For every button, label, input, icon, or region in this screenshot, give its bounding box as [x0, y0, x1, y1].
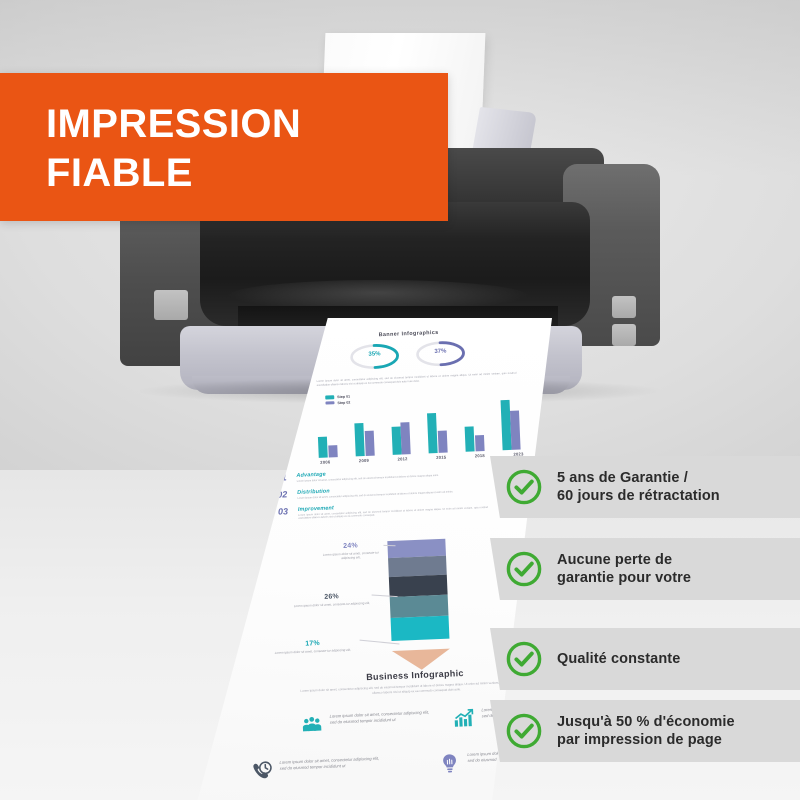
bar-group — [466, 451, 488, 452]
pyramid-percent-item: 26%Lorem ipsum dolor sit amet, consecte-… — [292, 592, 372, 608]
pyramid-segment — [388, 556, 447, 577]
feature-1-line-2: 60 jours de rétractation — [557, 488, 720, 504]
step-number: 03 — [278, 507, 293, 517]
feature-2-line-2: garantie pour votre — [557, 570, 691, 586]
feature-3-line-1: Qualité constante — [557, 651, 680, 667]
feature-1-line-1: 5 ans de Garantie / — [557, 470, 688, 486]
bar-step-02 — [474, 435, 484, 452]
check-circle-icon — [505, 550, 543, 588]
feature-callout-4: Jusqu'à 50 % d'économie par impression d… — [490, 700, 800, 762]
bar-step-01 — [391, 427, 401, 455]
headline-line-2: FIABLE — [46, 153, 193, 193]
pyramid-percent-item: 24%Lorem ipsum dolor sit amet, consecte-… — [317, 541, 384, 562]
feature-text-3: Qualité constante — [557, 650, 680, 668]
bar-group — [429, 452, 451, 453]
bar-group — [356, 455, 378, 456]
lightbulb-idea-icon — [438, 752, 461, 775]
legend-label-step-01: Step 01 — [337, 395, 350, 400]
feature-icon-item: Lorem ipsum dolor sit amet, consectetur … — [250, 755, 384, 783]
pyramid-connector-line — [383, 545, 395, 546]
donut-chart-2: 37% — [415, 340, 466, 368]
check-circle-icon — [505, 712, 543, 750]
numbered-steps-list: 01AdvantageLorem ipsum dolor sit amet, c… — [276, 464, 518, 528]
donut-chart-1: 35% — [349, 342, 400, 370]
feature-text-4: Jusqu'à 50 % d'économie par impression d… — [557, 713, 735, 750]
feature-callout-1: 5 ans de Garantie / 60 jours de rétracta… — [490, 456, 800, 518]
printer-feed-button — [612, 296, 636, 318]
bar-group — [319, 457, 341, 458]
x-axis-tick-label: 2009 — [345, 457, 384, 464]
feature-icon-text: Lorem ipsum dolor sit amet, consectetur … — [279, 755, 383, 772]
printer-cancel-button — [612, 324, 636, 346]
bar-step-01 — [427, 412, 438, 453]
headline-banner: IMPRESSION FIABLE — [0, 73, 448, 221]
bar-step-02 — [328, 446, 337, 458]
feature-text-2: Aucune perte de garantie pour votre — [557, 551, 691, 588]
legend-swatch-teal — [325, 396, 334, 400]
pyramid-percent-item: 17%Lorem ipsum dolor sit amet, consecte-… — [265, 638, 359, 655]
pyramid-segment — [391, 616, 450, 641]
pyramid-percent-body: Lorem ipsum dolor sit amet, consecte-tur… — [318, 550, 384, 562]
bar-group — [502, 449, 524, 450]
feature-text-1: 5 ans de Garantie / 60 jours de rétracta… — [557, 469, 720, 506]
bar-step-02 — [438, 430, 448, 453]
product-marketing-image: Banner Infographics 35% 37% Lorem ipsum … — [0, 0, 800, 800]
check-circle-icon — [505, 468, 543, 506]
feature-4-line-1: Jusqu'à 50 % d'économie — [557, 714, 735, 730]
bar-chart — [310, 395, 532, 458]
feature-callout-2: Aucune perte de garantie pour votre — [490, 538, 800, 600]
bar-step-02 — [364, 431, 374, 456]
feature-2-line-1: Aucune perte de — [557, 552, 672, 568]
bar-step-02 — [510, 411, 521, 450]
bar-step-01 — [500, 400, 511, 450]
x-axis-tick-label: 2006 — [306, 459, 345, 466]
feature-icon-item: Lorem ipsum dolor sit amet, consectetur … — [301, 709, 435, 737]
x-axis-tick-label: 2012 — [383, 456, 422, 463]
bar-step-01 — [318, 436, 328, 458]
headline-line-1: IMPRESSION — [46, 104, 301, 144]
people-group-icon — [301, 714, 324, 737]
bar-step-01 — [354, 423, 364, 456]
feature-callout-3: Qualité constante — [490, 628, 800, 690]
feature-4-line-2: par impression de page — [557, 732, 722, 748]
infographic-header-title: Banner Infographics — [329, 328, 489, 341]
pyramid-segment — [389, 574, 448, 596]
bar-chart-growth-icon — [452, 708, 475, 731]
clock-time-icon — [250, 760, 273, 783]
bar-step-02 — [401, 422, 411, 454]
feature-icon-text: Lorem ipsum dolor sit amet, consectetur … — [330, 709, 434, 726]
bar-group — [392, 454, 414, 455]
printer-power-button — [154, 290, 188, 320]
bar-step-01 — [465, 426, 475, 451]
pencil-tip — [392, 649, 451, 671]
x-axis-tick-label: 2015 — [422, 454, 461, 461]
check-circle-icon — [505, 640, 543, 678]
step-item: 03ImprovementLorem ipsum dolor sit amet,… — [278, 497, 518, 522]
pyramid-segment — [390, 594, 449, 618]
infographic-intro-paragraph: Lorem ipsum dolor sit amet, consectetur … — [317, 372, 517, 388]
legend-item-step-01: Step 01 — [325, 395, 350, 400]
